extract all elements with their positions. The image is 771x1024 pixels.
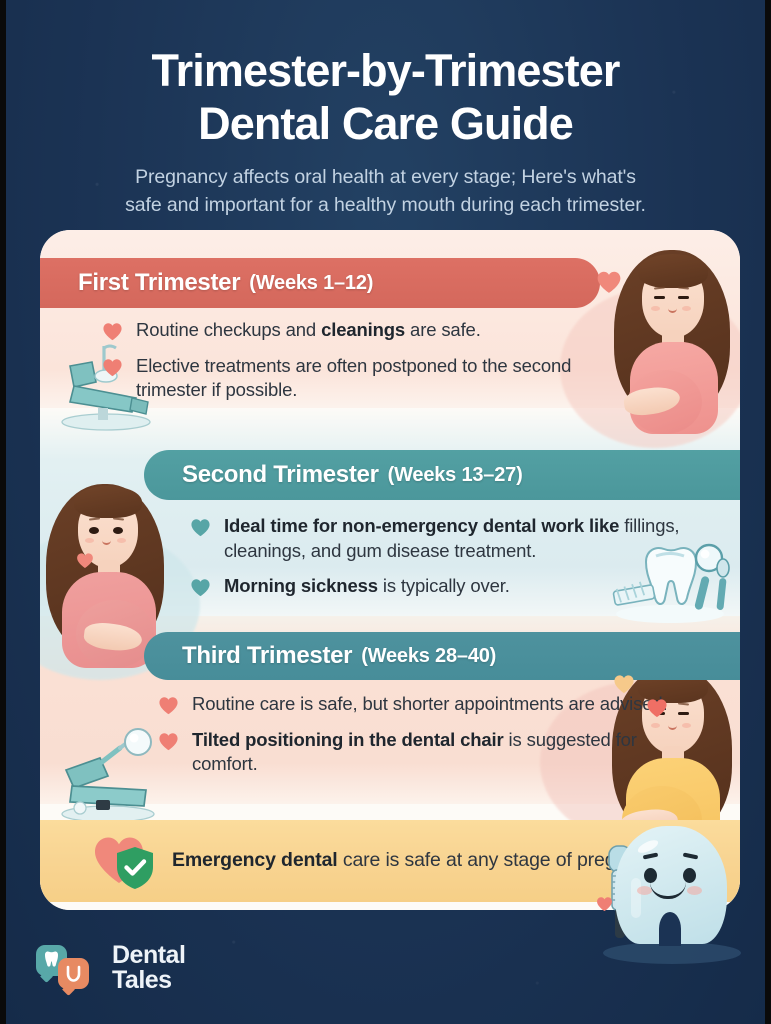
title-line-1: Trimester-by-Trimester [40,44,731,97]
subtitle-line-2: safe and important for a healthy mouth d… [40,192,731,220]
heart-icon [596,270,622,294]
infographic-poster: Trimester-by-Trimester Dental Care Guide… [0,0,771,1024]
list-item-text: Morning sickness is typically over. [224,574,510,599]
first-trimester-band: First Trimester (Weeks 1–12) [40,258,600,308]
blob-pink-1 [560,288,740,448]
subtitle-line-1: Pregnancy affects oral health at every s… [40,164,731,192]
list-item: Ideal time for non-emergency dental work… [190,514,680,563]
third-trimester-weeks: (Weeks 28–40) [361,645,496,668]
list-item-text: Tilted positioning in the dental chair i… [192,728,668,777]
list-item-text: Routine checkups and cleanings are safe. [136,318,481,343]
heart-icon [190,578,211,597]
speech-bubble-orange-icon [58,958,89,989]
third-trimester-content: Routine care is safe, but shorter appoin… [158,692,668,777]
logo-mark [36,945,98,991]
list-item-text: Elective treatments are often postponed … [136,354,572,403]
first-trimester-content: Routine checkups and cleanings are safe.… [102,318,572,403]
heart-icon [596,896,613,912]
heart-icon [102,358,123,377]
list-item-text: Routine care is safe, but shorter appoin… [192,692,668,717]
shield-check-icon [114,845,156,891]
tooth-eye-right [683,868,696,883]
page-title: Trimester-by-Trimester Dental Care Guide [40,44,731,150]
second-trimester-content: Ideal time for non-emergency dental work… [190,514,680,599]
second-trimester-name: Second Trimester [182,461,379,489]
heart-icon [646,698,668,718]
list-item: Routine checkups and cleanings are safe. [102,318,572,343]
logo-line-2: Tales [112,968,185,994]
smiling-tooth-mascot [597,812,747,972]
list-item: Elective treatments are often postponed … [102,354,572,403]
second-trimester-band: Second Trimester (Weeks 13–27) [144,450,740,500]
heart-icon [158,696,179,715]
heart-icon [190,518,211,537]
tooth-shine [631,878,641,918]
page-subtitle: Pregnancy affects oral health at every s… [40,164,731,219]
tooth-cheek-left [637,886,652,895]
emergency-text: Emergency dental care is safe at any sta… [172,848,671,874]
third-trimester-band: Third Trimester (Weeks 28–40) [144,632,740,680]
first-trimester-name: First Trimester [78,269,240,297]
tooth-cheek-right [687,886,702,895]
content-card: First Trimester (Weeks 1–12) Routine che… [40,230,740,910]
list-item: Tilted positioning in the dental chair i… [158,728,668,777]
first-trimester-weeks: (Weeks 1–12) [249,272,373,295]
tilted-dental-chair-illustration [46,728,170,828]
heart-icon [613,674,635,694]
poster-header: Trimester-by-Trimester Dental Care Guide… [6,0,765,220]
heart-icon [76,552,94,569]
list-item: Morning sickness is typically over. [190,574,680,599]
tooth-u-icon [58,958,89,989]
heart-icon [158,732,179,751]
third-trimester-name: Third Trimester [182,642,352,670]
logo-text: Dental Tales [112,943,185,995]
list-item: Routine care is safe, but shorter appoin… [158,692,668,717]
tooth-eye-left [644,868,657,883]
second-trimester-weeks: (Weeks 13–27) [388,464,523,487]
emergency-icon-group [92,833,166,889]
list-item-text: Ideal time for non-emergency dental work… [224,514,680,563]
brand-logo[interactable]: Dental Tales [36,943,185,995]
title-line-2: Dental Care Guide [40,97,731,150]
logo-line-1: Dental [112,943,185,969]
heart-icon [102,322,123,341]
